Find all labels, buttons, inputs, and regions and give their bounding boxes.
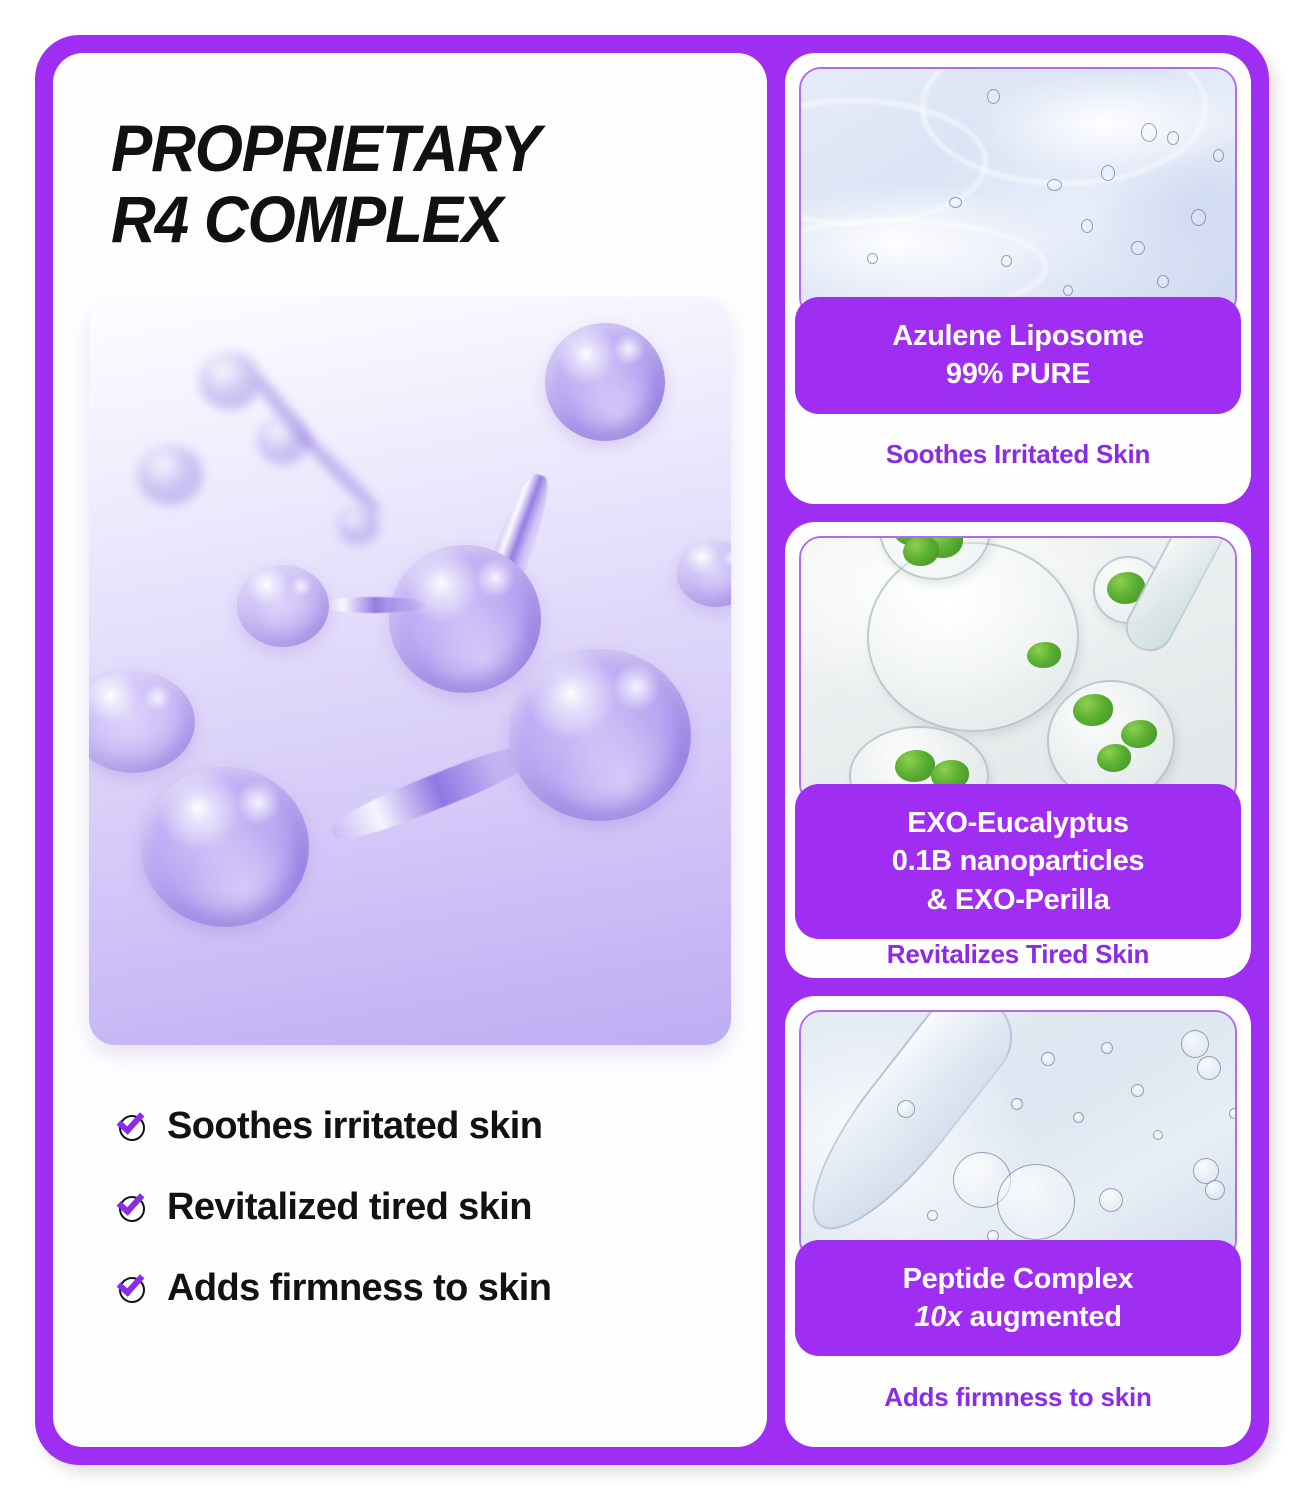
- ingredient-benefit-tag: Revitalizes Tired Skin: [799, 939, 1237, 978]
- ingredient-name-line: EXO-Eucalyptus: [805, 804, 1231, 842]
- benefit-item: Soothes irritated skin: [117, 1105, 733, 1148]
- benefit-label: Adds firmness to skin: [167, 1267, 551, 1310]
- molecule-sphere: [545, 323, 665, 441]
- ingredient-benefit-tag: Soothes Irritated Skin: [799, 414, 1237, 505]
- page-title: PROPRIETARY R4 COMPLEX: [111, 115, 733, 257]
- infographic-root: PROPRIETARY R4 COMPLEX: [35, 35, 1269, 1465]
- ingredient-name-line: Azulene Liposome: [805, 317, 1231, 355]
- benefit-item: Adds firmness to skin: [117, 1267, 733, 1310]
- ingredient-name-band: Peptide Complex 10x augmented: [795, 1240, 1241, 1357]
- gel-texture-image: [799, 67, 1237, 319]
- molecule-sphere: [389, 545, 541, 693]
- molecule-bg-node: [199, 352, 261, 410]
- molecule-sphere: [677, 541, 731, 607]
- augment-word: augmented: [970, 1301, 1122, 1333]
- ingredient-card-peptide: Peptide Complex 10x augmented Adds firmn…: [785, 996, 1251, 1447]
- ingredient-name-line: 99% PURE: [805, 355, 1231, 393]
- left-panel: PROPRIETARY R4 COMPLEX: [53, 53, 767, 1447]
- ingredient-card-exo-eucalyptus: EXO-Eucalyptus 0.1B nanoparticles & EXO-…: [785, 522, 1251, 978]
- lab-petri-dish-image: [799, 536, 1237, 806]
- molecule-hero-image: [89, 297, 731, 1045]
- augment-multiplier: 10x: [914, 1301, 962, 1333]
- ingredient-card-azulene: Azulene Liposome 99% PURE Soothes Irrita…: [785, 53, 1251, 504]
- page-title-line-2: R4 COMPLEX: [111, 186, 733, 257]
- ingredient-name-line-emphasis: 10x augmented: [805, 1298, 1231, 1336]
- ingredient-benefit-tag: Adds firmness to skin: [799, 1356, 1237, 1447]
- benefit-label: Revitalized tired skin: [167, 1186, 532, 1229]
- ingredient-card-column: Azulene Liposome 99% PURE Soothes Irrita…: [785, 53, 1251, 1447]
- ingredient-name-band: EXO-Eucalyptus 0.1B nanoparticles & EXO-…: [795, 784, 1241, 939]
- check-circle-icon: [117, 1109, 151, 1143]
- serum-dropper-image: [799, 1010, 1237, 1262]
- molecule-sphere: [509, 649, 691, 821]
- benefit-item: Revitalized tired skin: [117, 1186, 733, 1229]
- benefit-list: Soothes irritated skin Revitalized tired…: [117, 1105, 733, 1310]
- molecule-sphere: [141, 767, 309, 927]
- molecule-bg-bond: [297, 430, 384, 517]
- ingredient-name-line: Peptide Complex: [805, 1260, 1231, 1298]
- ingredient-name-line: 0.1B nanoparticles: [805, 842, 1231, 880]
- molecule-bg-node: [337, 505, 379, 545]
- molecule-bg-node: [137, 445, 203, 505]
- molecule-sphere: [237, 565, 329, 647]
- page-title-line-1: PROPRIETARY: [111, 115, 733, 186]
- ingredient-name-line: & EXO-Perilla: [805, 881, 1231, 919]
- check-circle-icon: [117, 1190, 151, 1224]
- benefit-label: Soothes irritated skin: [167, 1105, 542, 1148]
- ingredient-name-band: Azulene Liposome 99% PURE: [795, 297, 1241, 414]
- check-circle-icon: [117, 1271, 151, 1305]
- molecule-sphere: [89, 671, 195, 773]
- molecule-bond: [319, 597, 427, 613]
